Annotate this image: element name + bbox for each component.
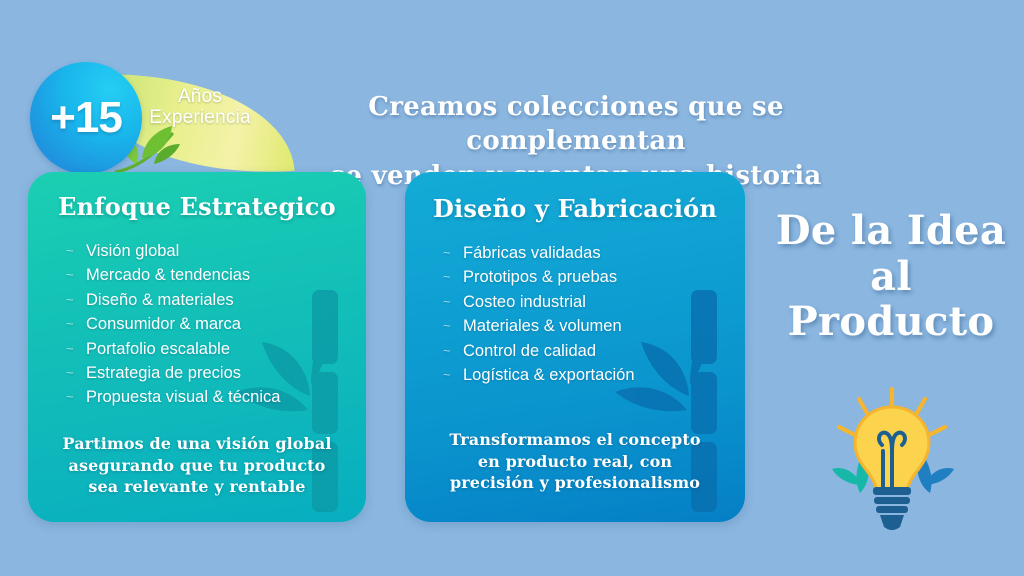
bullet-icon: ~ xyxy=(66,366,77,379)
card-enfoque-estrategico: Enfoque Estrategico ~Visión global ~Merc… xyxy=(28,172,366,522)
list-item: ~Logística & exportación xyxy=(443,363,745,387)
list-item-label: Prototipos & pruebas xyxy=(463,265,617,289)
list-item-label: Logística & exportación xyxy=(463,363,635,387)
bullet-icon: ~ xyxy=(66,293,77,306)
bullet-icon: ~ xyxy=(443,246,454,259)
card-diseno-y-fabricacion: Diseño y Fabricación ~Fábricas validadas… xyxy=(405,172,745,522)
headline-line1: Creamos colecciones que se complementan xyxy=(256,90,896,159)
list-item: ~Estrategia de precios xyxy=(66,361,366,385)
right-title-line2: al xyxy=(762,254,1020,300)
bullet-icon: ~ xyxy=(443,319,454,332)
list-item: ~Diseño & materiales xyxy=(66,288,366,312)
lightbulb-icon xyxy=(812,385,972,535)
list-item-label: Propuesta visual & técnica xyxy=(86,385,280,409)
list-item-label: Materiales & volumen xyxy=(463,314,622,338)
feature-list: ~Visión global ~Mercado & tendencias ~Di… xyxy=(28,239,366,410)
list-item-label: Estrategia de precios xyxy=(86,361,241,385)
card-title: Diseño y Fabricación xyxy=(405,194,745,223)
bullet-icon: ~ xyxy=(66,244,77,257)
list-item-label: Visión global xyxy=(86,239,179,263)
list-item-label: Fábricas validadas xyxy=(463,241,601,265)
card-footer: Partimos de una visión global asegurando… xyxy=(28,433,366,498)
list-item: ~Control de calidad xyxy=(443,339,745,363)
bullet-icon: ~ xyxy=(66,268,77,281)
list-item: ~Mercado & tendencias xyxy=(66,263,366,287)
bullet-icon: ~ xyxy=(66,342,77,355)
list-item: ~Materiales & volumen xyxy=(443,314,745,338)
list-item: ~Prototipos & pruebas xyxy=(443,265,745,289)
right-title-line3: Producto xyxy=(762,299,1020,345)
bullet-icon: ~ xyxy=(443,295,454,308)
list-item: ~Costeo industrial xyxy=(443,290,745,314)
bullet-icon: ~ xyxy=(443,344,454,357)
bullet-icon: ~ xyxy=(443,368,454,381)
list-item: ~Propuesta visual & técnica xyxy=(66,385,366,409)
list-item-label: Mercado & tendencias xyxy=(86,263,250,287)
list-item-label: Control de calidad xyxy=(463,339,596,363)
right-title-line1: De la Idea xyxy=(762,208,1020,254)
feature-list: ~Fábricas validadas ~Prototipos & prueba… xyxy=(405,241,745,387)
list-item-label: Diseño & materiales xyxy=(86,288,234,312)
list-item-label: Consumidor & marca xyxy=(86,312,241,336)
list-item: ~Consumidor & marca xyxy=(66,312,366,336)
list-item: ~Visión global xyxy=(66,239,366,263)
bullet-icon: ~ xyxy=(66,390,77,403)
right-panel-title: De la Idea al Producto xyxy=(762,208,1020,345)
bulb-base-icon xyxy=(873,487,911,530)
card-footer: Transformamos el concepto en producto re… xyxy=(405,429,745,494)
list-item-label: Costeo industrial xyxy=(463,290,586,314)
list-item-label: Portafolio escalable xyxy=(86,337,230,361)
card-title: Enfoque Estrategico xyxy=(28,192,366,221)
lightbulb-illustration xyxy=(812,385,972,535)
bullet-icon: ~ xyxy=(66,317,77,330)
list-item: ~Fábricas validadas xyxy=(443,241,745,265)
experience-badge: +15 Años Experiencia xyxy=(14,30,294,175)
bullet-icon: ~ xyxy=(443,270,454,283)
slide-canvas: +15 Años Experiencia Creamos colecciones… xyxy=(0,0,1024,576)
list-item: ~Portafolio escalable xyxy=(66,337,366,361)
